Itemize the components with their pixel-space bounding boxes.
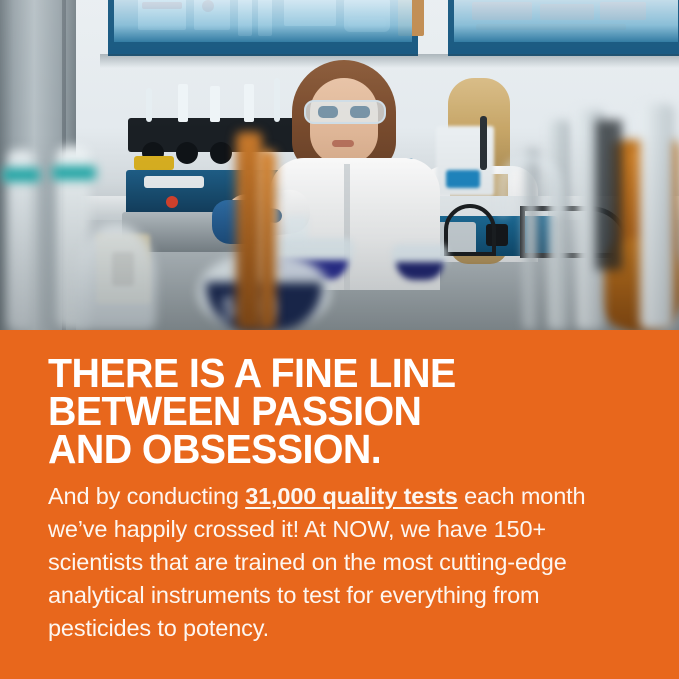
shelf-divider [476,24,626,30]
stand-rod [480,116,487,170]
overhead-cabinet-left [108,0,418,56]
shelf-marker [202,0,214,12]
glass-tube [178,84,188,122]
shelf-box [284,0,336,26]
shelf-box [194,0,230,30]
instrument-indicator [166,196,178,208]
shelf-tray [348,18,386,28]
shelf-bottle [258,0,272,36]
goggle-lens [350,106,370,118]
shelf-red-items [540,4,594,20]
tubing [444,204,496,256]
instrument-knob [176,142,198,164]
goggle-lens [318,106,338,118]
shelf-bottle [238,0,252,36]
mouth [332,140,354,147]
glass-column-right [640,104,674,330]
shelf-red-items [600,2,646,20]
amber-column [258,150,276,330]
overhead-cabinet-right [448,0,679,56]
glass-funnel [76,224,156,330]
shelf-red-items [472,2,532,20]
lab-photo: 500 [0,0,679,330]
orange-message-panel: THERE IS A FINE LINE BETWEEN PASSION AND… [0,330,679,679]
body-lead: And by conducting [48,483,245,509]
instrument-knob [210,142,232,164]
glass-tube [146,88,152,122]
safety-goggles [304,100,386,124]
body-paragraph: And by conducting 31,000 quality tests e… [48,480,638,645]
glass-tube [244,84,254,122]
dark-equipment-right [596,120,622,270]
shelf-label-red [142,2,182,9]
shelf-cardboard [398,0,424,36]
teal-band [52,166,96,180]
flask-blue-small [392,232,448,280]
glass-tube [210,86,220,122]
teal-band [2,168,40,182]
shelf-container [344,0,390,32]
headline: THERE IS A FINE LINE BETWEEN PASSION AND… [48,354,624,468]
shelf-box [138,0,186,30]
glass-hook [500,156,560,216]
body-emphasis-stat: 31,000 quality tests [245,483,458,509]
instrument-yellow-label [134,156,174,170]
right-equipment-blue-accent [446,170,480,188]
glass-column-right [548,120,570,330]
